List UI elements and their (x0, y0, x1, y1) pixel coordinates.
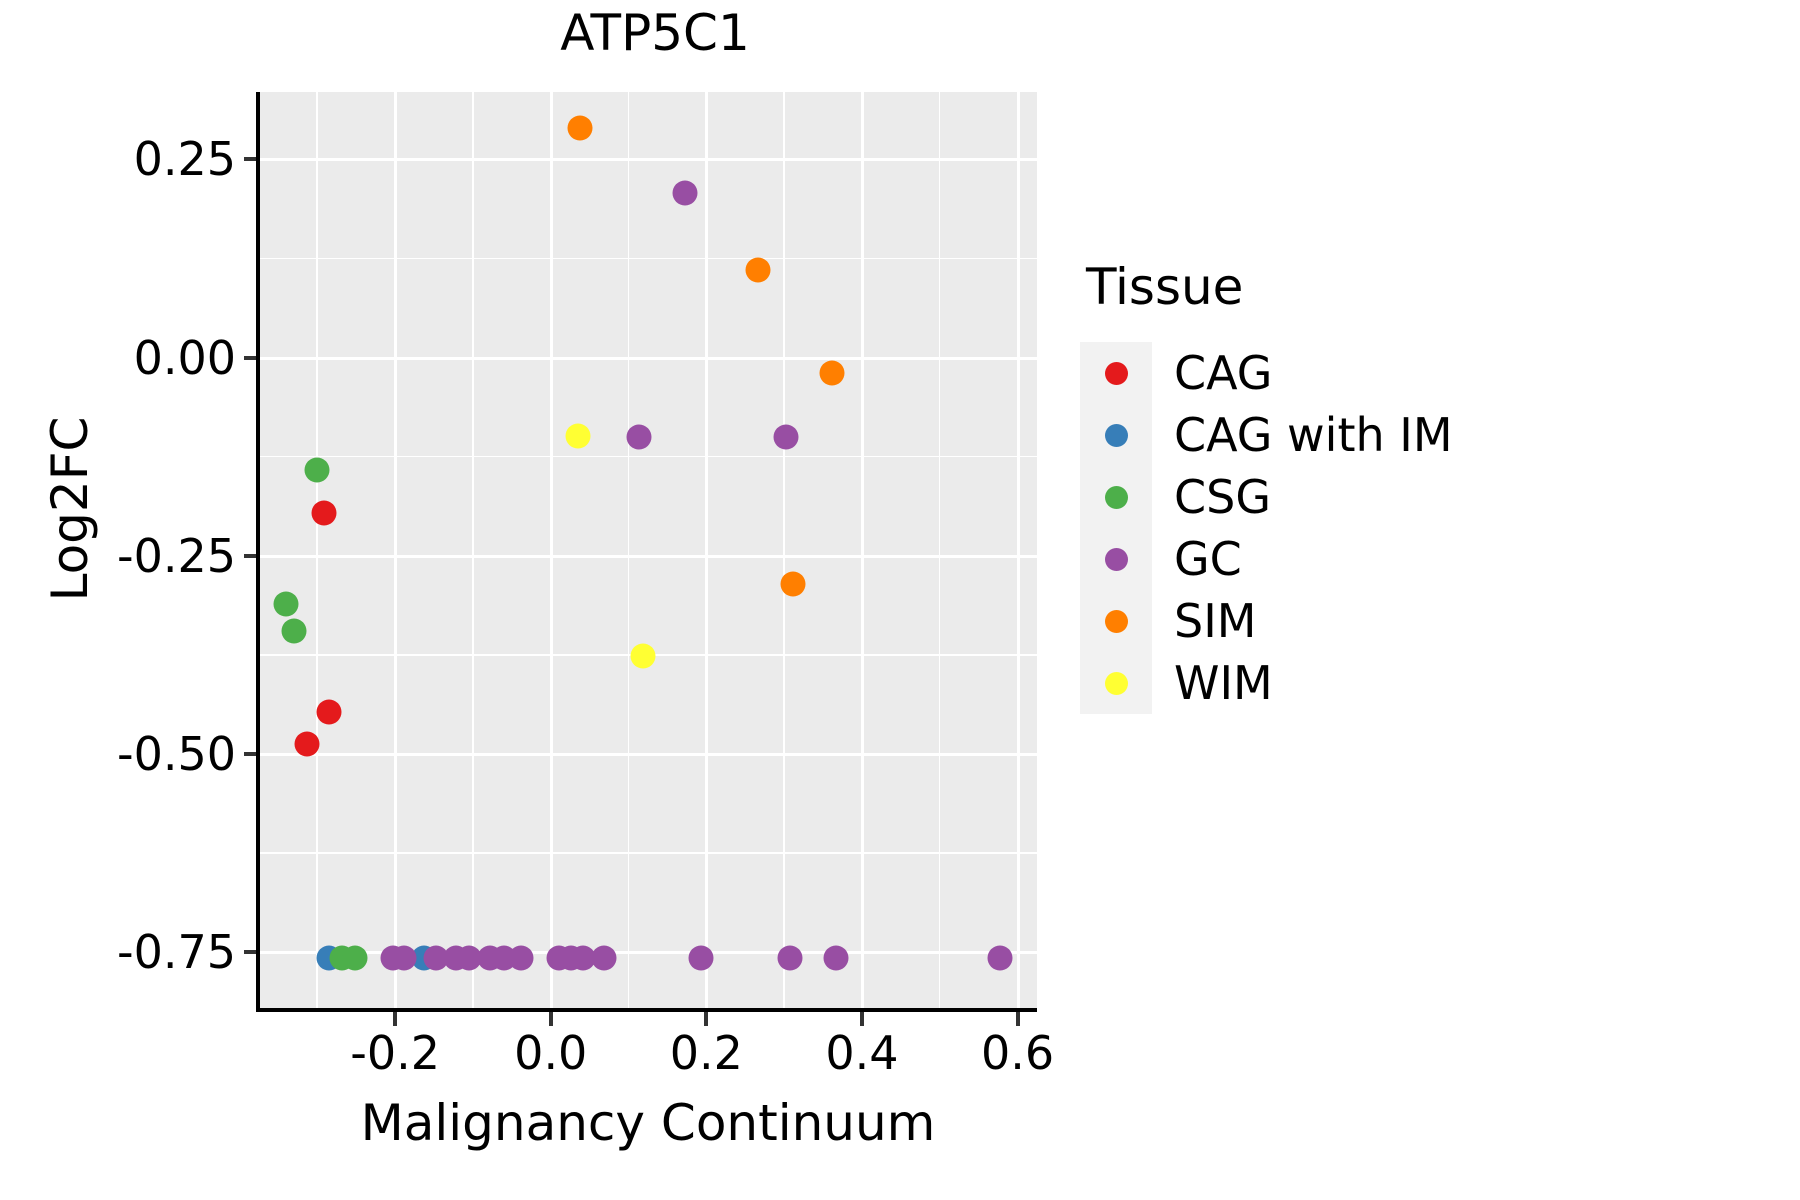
legend-key (1080, 424, 1152, 447)
data-point (824, 946, 849, 971)
data-point (282, 619, 307, 644)
gridline-horizontal (259, 258, 1037, 260)
y-axis-title: Log2FC (41, 259, 99, 759)
gridline-vertical (316, 92, 318, 1008)
legend-item-label: GC (1174, 532, 1242, 586)
data-point (672, 180, 697, 205)
legend-dot-icon (1105, 424, 1128, 447)
y-tick-label: 0.00 (0, 331, 236, 385)
legend-key (1080, 672, 1152, 695)
data-point (565, 424, 590, 449)
y-tick-mark (244, 950, 256, 954)
data-point (295, 731, 320, 756)
data-point (820, 360, 845, 385)
data-point (317, 700, 342, 725)
gridline-vertical (939, 92, 941, 1008)
data-point (568, 116, 593, 141)
chart-root: ATP5C1 0.250.00-0.25-0.50-0.75 -0.20.00.… (0, 0, 1800, 1200)
gridline-horizontal (259, 555, 1037, 558)
legend-key (1080, 362, 1152, 385)
gridline-vertical (472, 92, 474, 1008)
data-point (342, 946, 367, 971)
y-tick-mark (244, 752, 256, 756)
x-tick-label: 0.0 (514, 1026, 587, 1080)
legend-key (1080, 486, 1152, 509)
y-tick-mark (244, 554, 256, 558)
y-tick-label: -0.75 (0, 925, 236, 979)
x-tick-label: 0.6 (981, 1026, 1054, 1080)
data-point (509, 946, 534, 971)
data-point (274, 591, 299, 616)
legend-item-cag[interactable]: CAG (1080, 342, 1453, 404)
data-point (773, 424, 798, 449)
legend-item-csg[interactable]: CSG (1080, 466, 1453, 528)
legend-item-label: WIM (1174, 656, 1273, 710)
legend: Tissue CAGCAG with IMCSGGCSIMWIM (1080, 258, 1453, 714)
legend-dot-icon (1105, 672, 1128, 695)
legend-item-label: SIM (1174, 594, 1256, 648)
plot-panel (259, 92, 1037, 1008)
x-axis-title: Malignancy Continuum (259, 1094, 1037, 1152)
legend-dot-icon (1105, 610, 1128, 633)
legend-title: Tissue (1086, 258, 1453, 316)
x-tick-label: 0.2 (670, 1026, 743, 1080)
data-point (630, 643, 655, 668)
data-point (591, 946, 616, 971)
gridline-vertical (628, 92, 630, 1008)
data-point (987, 946, 1012, 971)
data-point (311, 501, 336, 526)
data-point (626, 424, 651, 449)
data-point (746, 257, 771, 282)
legend-item-gc[interactable]: GC (1080, 528, 1453, 590)
gridline-horizontal (259, 951, 1037, 954)
gridline-horizontal (259, 456, 1037, 458)
gridline-horizontal (259, 852, 1037, 854)
legend-key (1080, 610, 1152, 633)
x-tick-mark (393, 1012, 397, 1026)
x-tick-mark (1016, 1012, 1020, 1026)
gridline-vertical (861, 92, 864, 1008)
gridline-vertical (783, 92, 785, 1008)
y-tick-label: 0.25 (0, 132, 236, 186)
legend-item-cag-with-im[interactable]: CAG with IM (1080, 404, 1453, 466)
gridline-vertical (394, 92, 397, 1008)
legend-dot-icon (1105, 362, 1128, 385)
data-point (778, 946, 803, 971)
gridline-vertical (550, 92, 553, 1008)
y-tick-label: -0.50 (0, 727, 236, 781)
legend-dot-icon (1105, 486, 1128, 509)
data-point (688, 946, 713, 971)
y-tick-mark (244, 157, 256, 161)
y-tick-mark (244, 356, 256, 360)
gridline-horizontal (259, 357, 1037, 360)
x-tick-mark (549, 1012, 553, 1026)
gridline-horizontal (259, 158, 1037, 161)
gridline-horizontal (259, 753, 1037, 756)
legend-items: CAGCAG with IMCSGGCSIMWIM (1080, 342, 1453, 714)
x-tick-mark (704, 1012, 708, 1026)
x-tick-label: 0.4 (825, 1026, 898, 1080)
page-title: ATP5C1 (260, 6, 1050, 61)
x-axis-line (256, 1008, 1037, 1012)
data-point (305, 457, 330, 482)
gridline-vertical (705, 92, 708, 1008)
legend-item-label: CSG (1174, 470, 1271, 524)
data-point (392, 946, 417, 971)
data-point (781, 571, 806, 596)
y-tick-label: -0.25 (0, 529, 236, 583)
y-axis-line (256, 92, 260, 1008)
x-tick-label: -0.2 (350, 1026, 440, 1080)
gridline-vertical (1017, 92, 1020, 1008)
legend-dot-icon (1105, 548, 1128, 571)
legend-item-label: CAG (1174, 346, 1272, 400)
legend-item-wim[interactable]: WIM (1080, 652, 1453, 714)
x-tick-mark (860, 1012, 864, 1026)
legend-item-sim[interactable]: SIM (1080, 590, 1453, 652)
legend-item-label: CAG with IM (1174, 408, 1453, 462)
legend-key (1080, 548, 1152, 571)
